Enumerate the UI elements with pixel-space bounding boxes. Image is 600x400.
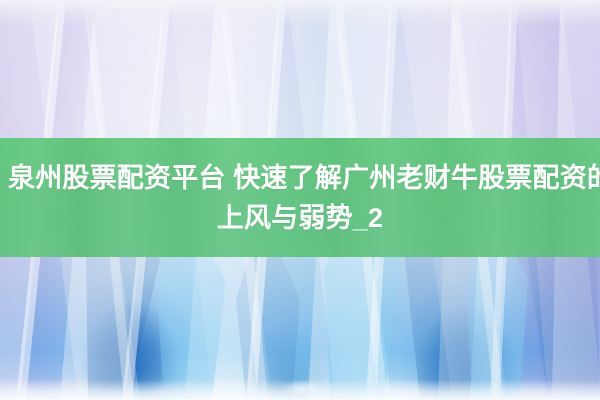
banner-text-block: 泉州股票配资平台 快速了解广州老财牛股票配资的 上风与弱势_2 bbox=[0, 158, 600, 238]
banner-image: 泉州股票配资平台 快速了解广州老财牛股票配资的 上风与弱势_2 bbox=[0, 0, 600, 400]
top-edge-fade bbox=[0, 0, 600, 26]
bottom-edge-fade bbox=[0, 380, 600, 400]
title-line-1: 泉州股票配资平台 快速了解广州老财牛股票配资的 bbox=[8, 158, 592, 198]
title-line-2: 上风与弱势_2 bbox=[8, 198, 592, 238]
title-banner: 泉州股票配资平台 快速了解广州老财牛股票配资的 上风与弱势_2 bbox=[0, 138, 600, 257]
